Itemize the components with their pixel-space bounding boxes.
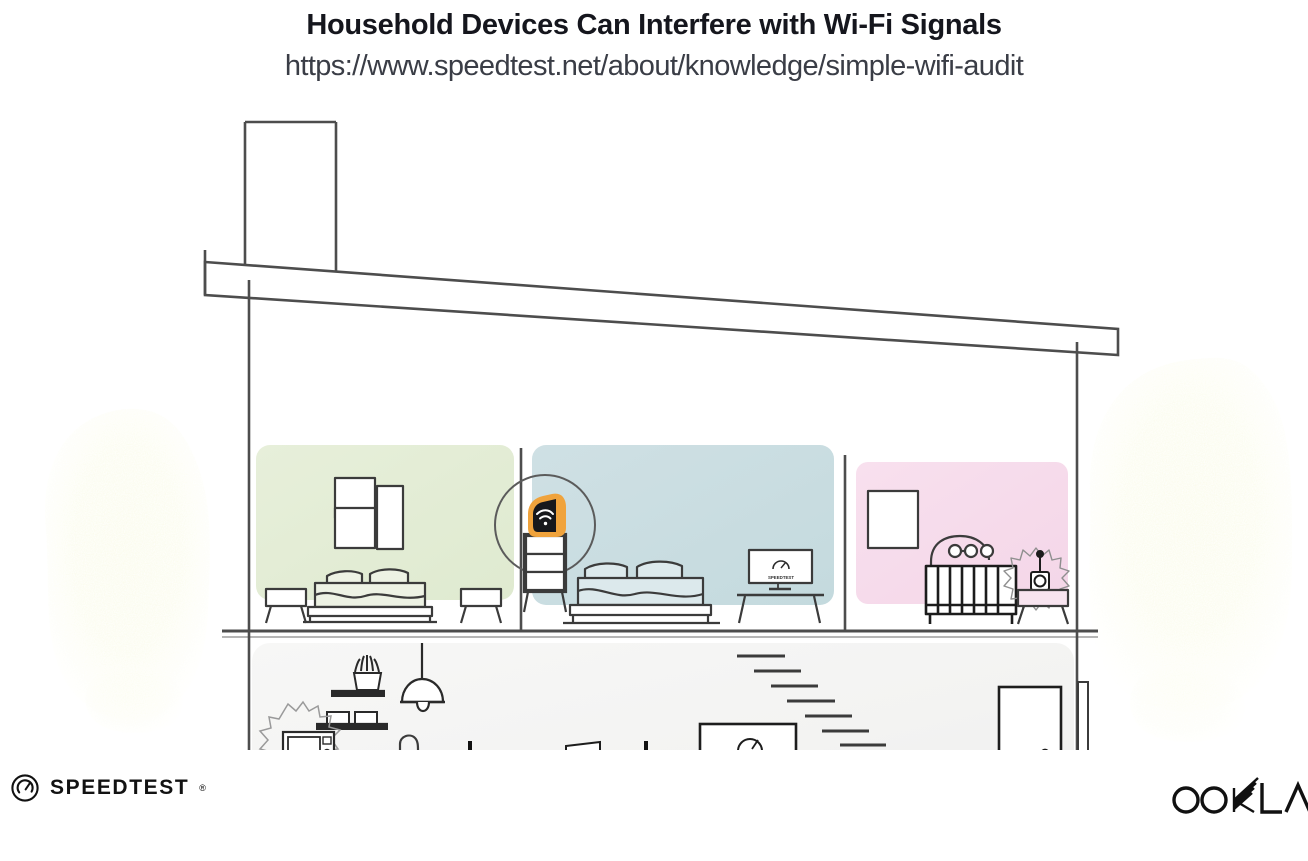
wall-frame-2 — [335, 508, 375, 548]
speedtest-wordmark: SPEEDTEST — [50, 776, 189, 800]
screenshot-root: Household Devices Can Interfere with Wi-… — [0, 0, 1308, 861]
crib — [926, 566, 1016, 624]
wall-frame-3 — [377, 486, 403, 549]
nursery-wall-frame — [868, 491, 918, 548]
nightstand-right — [461, 589, 501, 623]
foliage-left — [45, 409, 210, 733]
ookla-wordmark-svg — [1166, 769, 1308, 819]
screen-brand-text: SPEEDTEST — [768, 575, 794, 580]
desk-monitor[interactable]: SPEEDTEST — [749, 550, 812, 589]
side-table — [1018, 590, 1068, 624]
speedometer-gauge-icon — [10, 773, 40, 803]
living-room-tv[interactable]: SPEEDTEST — [700, 724, 796, 750]
nightstand-left — [266, 589, 306, 623]
entry-door[interactable] — [993, 687, 1066, 750]
footer: SPEEDTEST ® — [0, 751, 1308, 861]
house-cutaway-svg: SPEEDTEST — [0, 110, 1308, 750]
foliage-right — [1089, 358, 1292, 742]
header: Household Devices Can Interfere with Wi-… — [0, 0, 1308, 84]
ookla-logo — [1166, 769, 1308, 824]
roof — [205, 250, 1118, 355]
house-illustration: SPEEDTEST — [0, 110, 1308, 750]
speedtest-trademark: ® — [199, 783, 206, 793]
microwave-oven[interactable] — [283, 732, 334, 750]
chimney — [245, 122, 336, 273]
right-window-strip — [1078, 682, 1088, 750]
page-title: Household Devices Can Interfere with Wi-… — [0, 8, 1308, 43]
speedtest-logo: SPEEDTEST ® — [10, 773, 206, 803]
ookla-k-swoosh-icon — [1234, 778, 1258, 812]
source-url: https://www.speedtest.net/about/knowledg… — [0, 49, 1308, 84]
